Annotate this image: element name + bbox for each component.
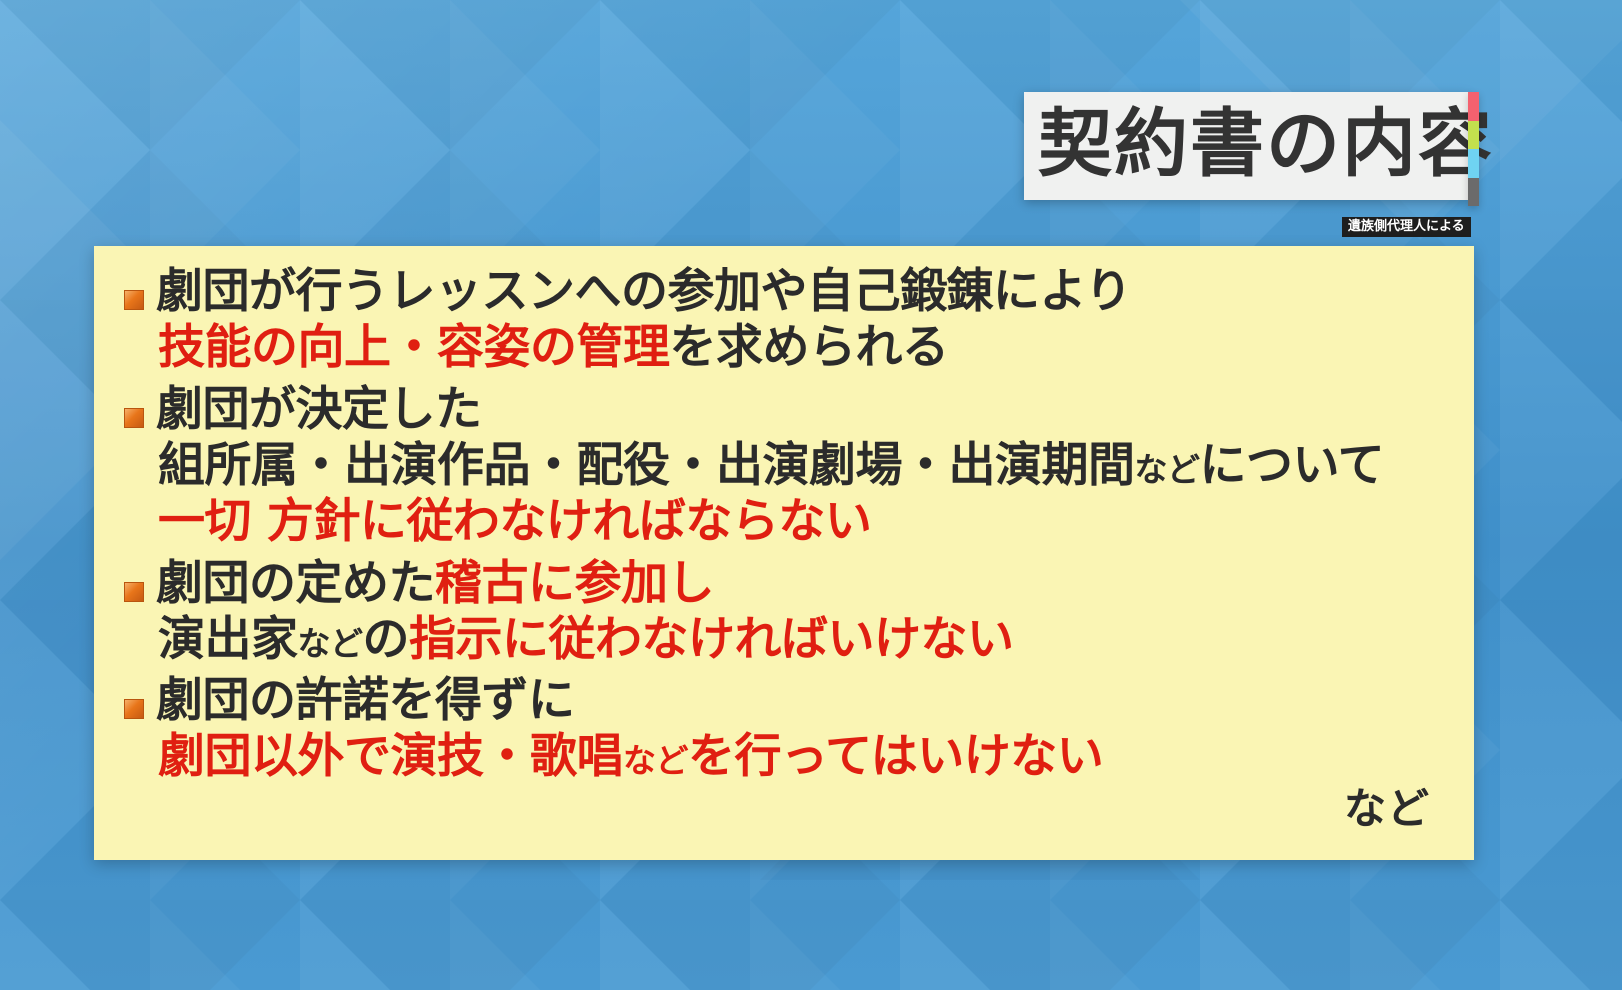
text-segment: の (363, 612, 410, 667)
bullet-item: 劇団の定めた稽古に参加し演出家などの指示に従わなければいけない (124, 556, 1448, 668)
bullet-line: 劇団の定めた稽古に参加し (156, 556, 1448, 612)
text-segment: 技能の向上・容姿の管理 (158, 320, 670, 375)
title-accent-strip (1468, 92, 1479, 206)
accent-swatch-blue (1468, 149, 1479, 178)
text-segment: 稽古に参加し (435, 556, 714, 611)
bullet-lines: 劇団の定めた稽古に参加し演出家などの指示に従わなければいけない (156, 556, 1448, 668)
bullet-marker-icon (124, 582, 144, 602)
bullet-line: 劇団が決定した (156, 382, 1448, 438)
text-segment: 組所属・出演作品・配役・出演劇場・出演期間 (158, 438, 1135, 493)
bullet-line: 劇団の許諾を得ずに (156, 673, 1448, 729)
title-card: 契約書の内容 (1024, 92, 1468, 200)
bullet-lines: 劇団が決定した組所属・出演作品・配役・出演劇場・出演期間などについて一切 方針に… (156, 382, 1448, 550)
bullet-line: 一切 方針に従わなければならない (156, 494, 1448, 550)
text-segment: 劇団の定めた (156, 556, 435, 611)
bullet-line: 劇団以外で演技・歌唱などを行ってはいけない (156, 729, 1448, 785)
bullet-item: 劇団が決定した組所属・出演作品・配役・出演劇場・出演期間などについて一切 方針に… (124, 382, 1448, 550)
attribution-label: 遺族側代理人による (1342, 217, 1471, 237)
bullet-line: 組所属・出演作品・配役・出演劇場・出演期間などについて (156, 438, 1448, 494)
bullet-line: 演出家などの指示に従わなければいけない (156, 612, 1448, 668)
accent-swatch-gray (1468, 178, 1479, 207)
text-segment: を求められる (670, 320, 949, 375)
bullet-item: 劇団が行うレッスンへの参加や自己鍛錬により技能の向上・容姿の管理を求められる (124, 264, 1448, 376)
text-segment: 指示に従わなければいけない (409, 612, 1014, 667)
text-segment: 劇団の許諾を得ずに (156, 673, 575, 728)
bullet-line: 劇団が行うレッスンへの参加や自己鍛錬により (156, 264, 1448, 320)
accent-swatch-green (1468, 121, 1479, 150)
accent-swatch-red (1468, 92, 1479, 121)
text-segment: など (1135, 450, 1200, 489)
text-segment: 劇団以外で演技・歌唱 (158, 729, 623, 784)
text-segment: を行ってはいけない (688, 729, 1103, 784)
text-segment: について (1200, 438, 1385, 493)
bullet-marker-icon (124, 699, 144, 719)
text-segment: 劇団が決定した (156, 382, 482, 437)
text-segment: 劇団が行うレッスンへの参加や自己鍛錬により (156, 264, 1132, 319)
bullet-lines: 劇団が行うレッスンへの参加や自己鍛錬により技能の向上・容姿の管理を求められる (156, 264, 1448, 376)
text-segment: など (623, 741, 688, 780)
footer-note: など (1344, 775, 1430, 836)
text-segment: 演出家 (158, 612, 298, 667)
text-segment: 一切 方針に従わなければならない (158, 494, 871, 549)
bullet-list: 劇団が行うレッスンへの参加や自己鍛錬により技能の向上・容姿の管理を求められる劇団… (124, 264, 1448, 785)
bullet-marker-icon (124, 408, 144, 428)
bullet-lines: 劇団の許諾を得ずに劇団以外で演技・歌唱などを行ってはいけない (156, 673, 1448, 785)
bullet-item: 劇団の許諾を得ずに劇団以外で演技・歌唱などを行ってはいけない (124, 673, 1448, 785)
page-title: 契約書の内容 (1024, 107, 1494, 181)
bullet-line: 技能の向上・容姿の管理を求められる (156, 320, 1448, 376)
content-panel: 劇団が行うレッスンへの参加や自己鍛錬により技能の向上・容姿の管理を求められる劇団… (94, 246, 1474, 860)
bullet-marker-icon (124, 290, 144, 310)
text-segment: など (298, 624, 363, 663)
